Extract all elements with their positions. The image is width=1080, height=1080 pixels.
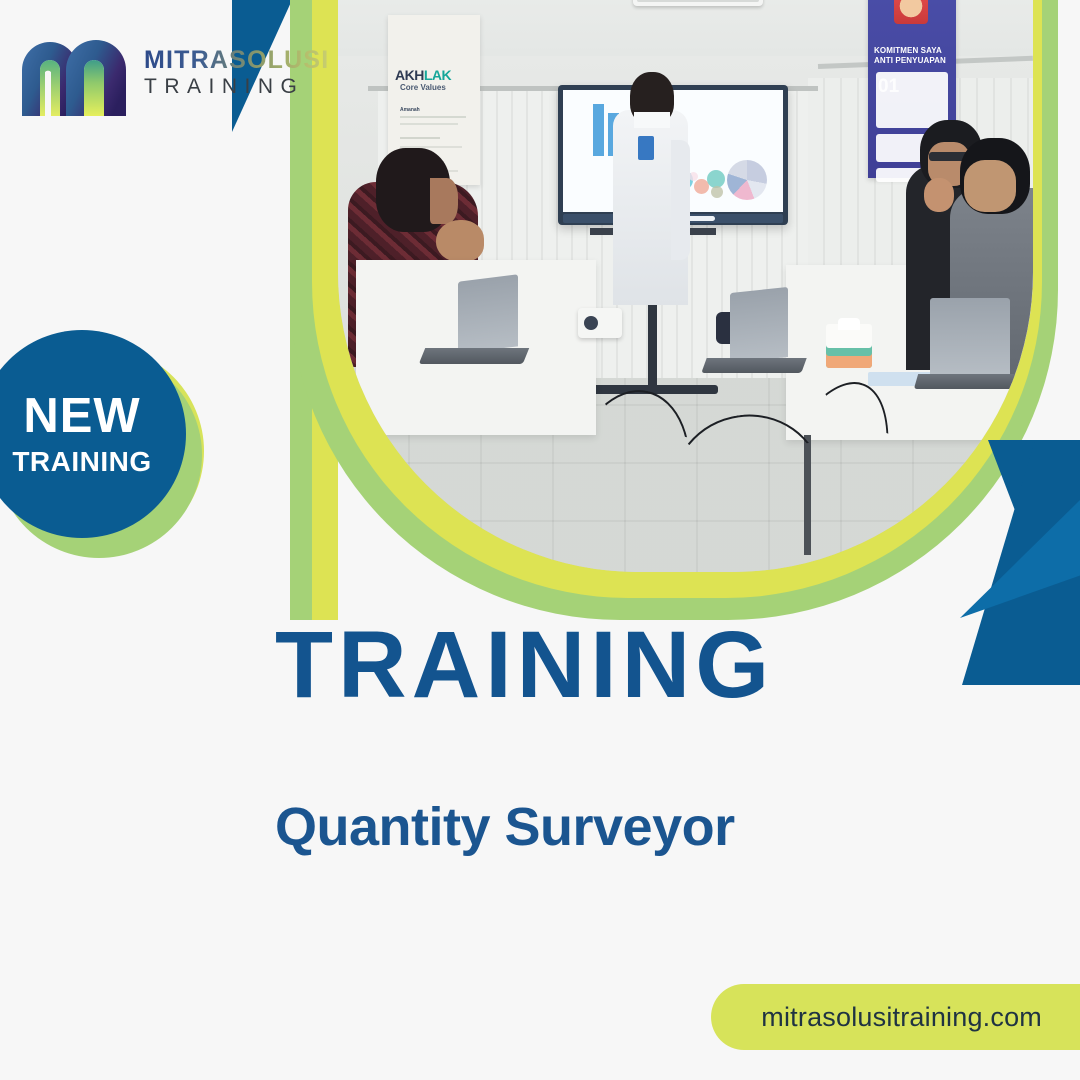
banner-anti-title: KOMITMEN SAYA ANTI PENYUAPAN [874,46,952,66]
dashboard-bubble [689,172,698,181]
photo-laptop-screen [730,287,788,363]
brand-logo[interactable]: MITRASOLUSI TRAINING [18,30,329,116]
photo-laptop-base [701,358,806,373]
photo-participant-hands [436,220,484,262]
page-title: TRAINING [275,618,774,713]
poster-canvas: AKHLAK Core Values Amanah [0,0,1080,1080]
logo-m-mark-icon [18,30,136,116]
banner-line-3 [400,137,440,139]
training-photo: AKHLAK Core Values Amanah [338,0,1033,572]
photo-tissue-box [826,324,872,368]
logo-brand-name: MITRASOLUSI [144,48,329,73]
photo-air-conditioner [633,0,763,6]
photo-laptop-screen [458,274,518,353]
banner-anti-line1: KOMITMEN SAYA [874,46,942,55]
photo-participant-face [430,178,458,224]
badge-label-training: TRAINING [12,448,151,476]
banner-akhlak-item1: Amanah [400,107,420,113]
photo-presenter-arm [671,140,690,260]
photo-table-leg [374,430,381,550]
banner-illustration [894,0,928,24]
dashboard-bar [593,104,604,156]
photo-projector-device [578,308,622,338]
logo-wordmark: MITRASOLUSI TRAINING [144,30,329,101]
logo-tagline: TRAINING [144,73,329,101]
photo-attendee-hand [924,178,954,212]
photo-laptop-base [914,374,1026,389]
photo-presenter-collar [634,112,670,128]
page-subtitle: Quantity Surveyor [275,800,735,854]
photo-attendee-face [964,160,1016,212]
photo-laptop-base [419,348,529,364]
photo-scene: AKHLAK Core Values Amanah [338,0,1033,572]
photo-laptop-screen [930,298,1010,376]
website-pill[interactable]: mitrasolusitraining.com [711,984,1080,1050]
banner-anti-line2: ANTI PENYUAPAN [874,56,946,65]
banner-line-2 [400,123,458,125]
banner-line-1 [400,116,466,118]
dashboard-pie-chart [727,160,767,200]
banner-akhlak-subtitle: Core Values [400,83,446,92]
badge-label-new: NEW [23,392,140,441]
new-training-badge[interactable]: NEW TRAINING [0,330,214,566]
dashboard-bubble [711,186,723,198]
banner-anti-step1: 01 [878,76,899,98]
banner-akhlak-title: AKHLAK [395,67,451,83]
website-url: mitrasolusitraining.com [761,1002,1042,1033]
banner-akhlak-suffix: LAK [424,67,451,83]
photo-presenter-id-badge [638,136,654,160]
banner-akhlak-prefix: AKH [395,67,424,83]
